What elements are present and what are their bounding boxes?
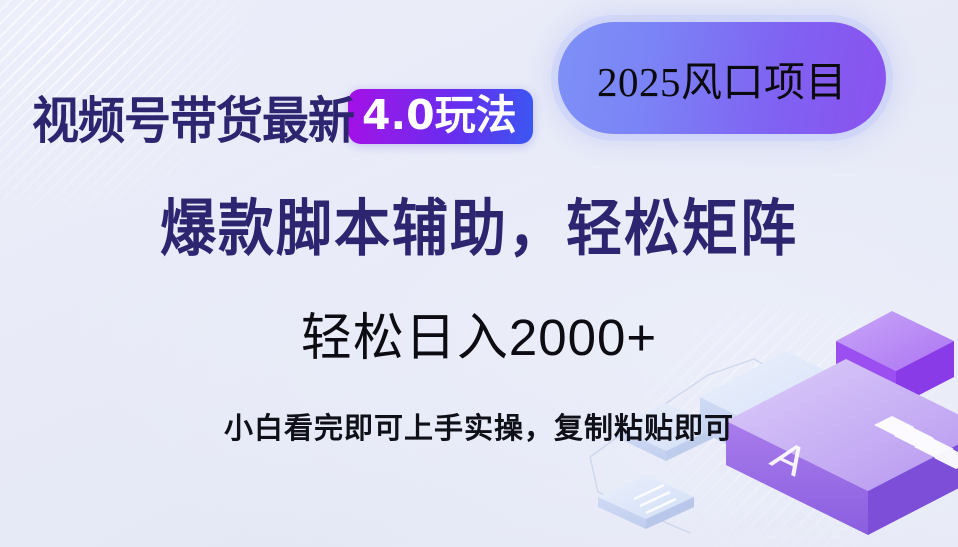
campaign-pill-shape: 2025风口项目 <box>558 22 886 134</box>
light-card-small <box>598 475 694 529</box>
headline-line-2: 爆款脚本辅助，轻松矩阵 <box>0 179 958 268</box>
subtitle-line: 小白看完即可上手实操，复制粘贴即可 <box>0 405 958 447</box>
diagonal-hatch-pattern-topleft <box>0 0 380 320</box>
purple-slab-document: A <box>726 359 958 535</box>
poster-canvas: A 2025风口项目 视频号带货最新 4.0玩法 爆款脚本辅助，轻松矩阵 轻松日… <box>0 0 958 547</box>
headline-line-3-earnings: 轻松日入2000+ <box>0 296 958 370</box>
campaign-pill: 2025风口项目 <box>558 22 886 134</box>
headline-line-1: 视频号带货最新 4.0玩法 <box>32 82 533 151</box>
campaign-pill-label: 2025风口项目 <box>558 48 886 108</box>
headline-line-1-text: 视频号带货最新 <box>32 80 354 153</box>
version-badge: 4.0玩法 <box>348 89 533 144</box>
